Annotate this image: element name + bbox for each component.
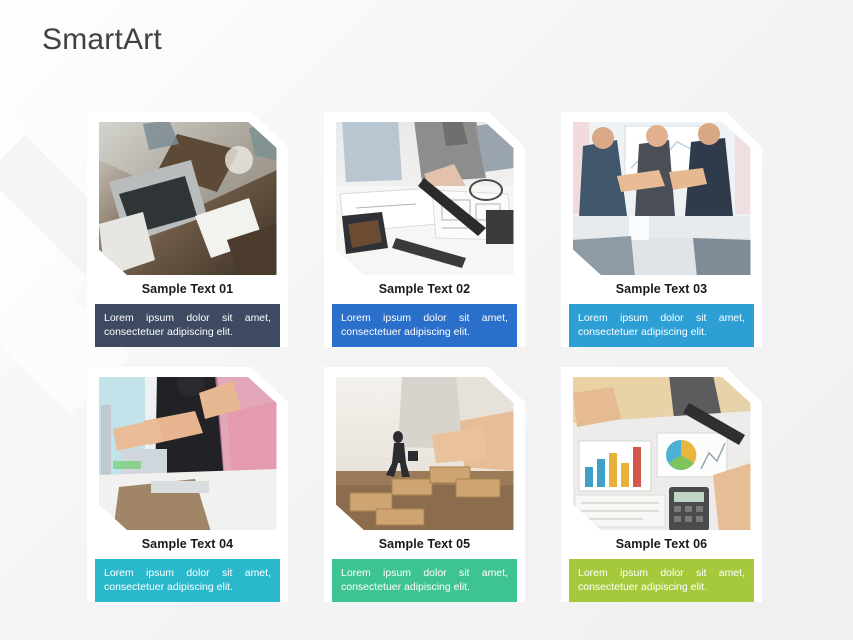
page-title: SmartArt <box>42 23 162 57</box>
smartart-card[interactable]: Sample Text 03 Lorem ipsum dolor sit ame… <box>561 112 762 347</box>
card-description-text: Lorem ipsum dolor sit amet, consectetuer… <box>341 566 508 594</box>
card-description-box: Lorem ipsum dolor sit amet, consectetuer… <box>569 559 754 602</box>
card-image-business-handshake-meeting <box>573 122 751 275</box>
card-description-text: Lorem ipsum dolor sit amet, consectetuer… <box>104 311 271 339</box>
card-description-box: Lorem ipsum dolor sit amet, consectetuer… <box>569 304 754 347</box>
card-image-charts-calculator-analysis <box>573 377 751 530</box>
card-description-text: Lorem ipsum dolor sit amet, consectetuer… <box>341 311 508 339</box>
card-description-box: Lorem ipsum dolor sit amet, consectetuer… <box>332 304 517 347</box>
card-image-team-discussion-office <box>99 377 277 530</box>
smartart-card[interactable]: Sample Text 06 Lorem ipsum dolor sit ame… <box>561 367 762 602</box>
card-description-box: Lorem ipsum dolor sit amet, consectetuer… <box>95 559 280 602</box>
card-title: Sample Text 05 <box>379 537 471 551</box>
card-image-figurine-walking-wooden-blocks <box>336 377 514 530</box>
card-image-team-working-laptops-desk <box>99 122 277 275</box>
card-description-text: Lorem ipsum dolor sit amet, consectetuer… <box>578 566 745 594</box>
card-title: Sample Text 04 <box>142 537 234 551</box>
smartart-card[interactable]: Sample Text 05 Lorem ipsum dolor sit ame… <box>324 367 525 602</box>
smartart-card-grid: Sample Text 01 Lorem ipsum dolor sit ame… <box>87 112 777 602</box>
card-description-text: Lorem ipsum dolor sit amet, consectetuer… <box>578 311 745 339</box>
card-description-text: Lorem ipsum dolor sit amet, consectetuer… <box>104 566 271 594</box>
card-title: Sample Text 06 <box>616 537 708 551</box>
smartart-card[interactable]: Sample Text 04 Lorem ipsum dolor sit ame… <box>87 367 288 602</box>
card-title: Sample Text 03 <box>616 282 708 296</box>
smartart-card[interactable]: Sample Text 02 Lorem ipsum dolor sit ame… <box>324 112 525 347</box>
card-image-architects-blueprints <box>336 122 514 275</box>
card-description-box: Lorem ipsum dolor sit amet, consectetuer… <box>332 559 517 602</box>
card-title: Sample Text 01 <box>142 282 234 296</box>
card-title: Sample Text 02 <box>379 282 471 296</box>
slide-canvas: SmartArt <box>0 0 853 640</box>
card-description-box: Lorem ipsum dolor sit amet, consectetuer… <box>95 304 280 347</box>
smartart-card[interactable]: Sample Text 01 Lorem ipsum dolor sit ame… <box>87 112 288 347</box>
